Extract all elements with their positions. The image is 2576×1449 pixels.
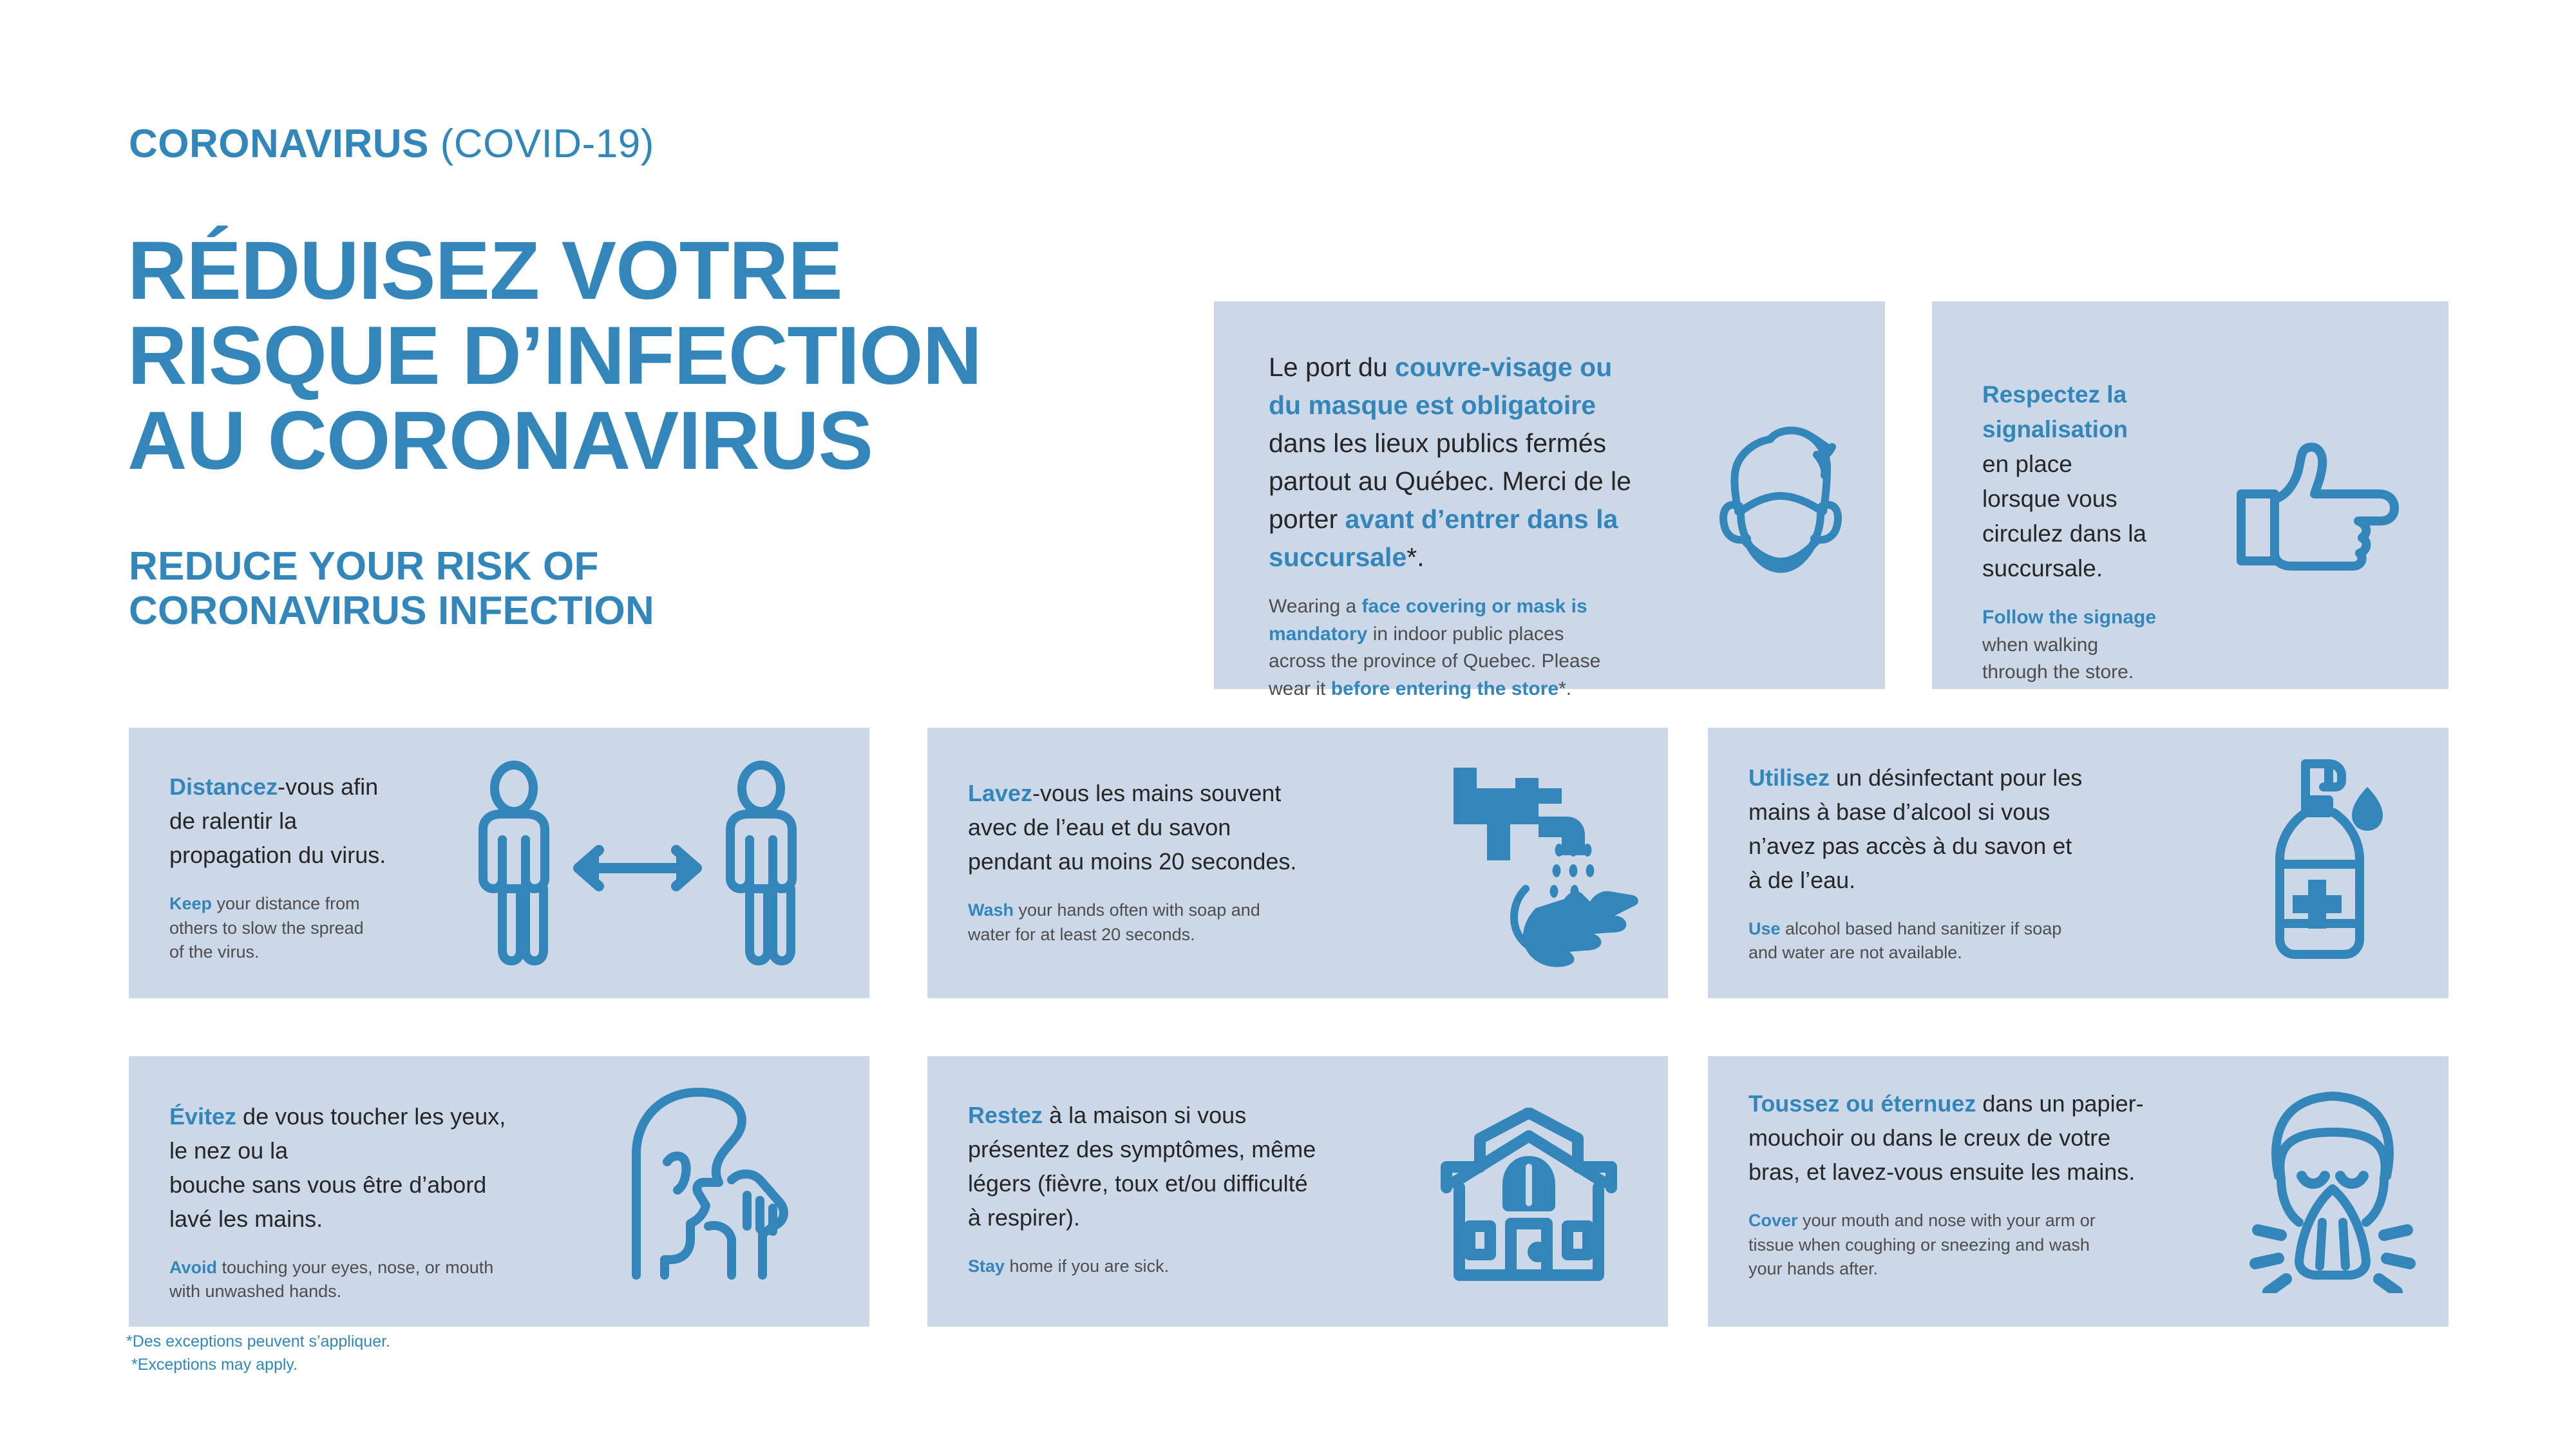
- faucet-hands-icon: [1446, 755, 1639, 967]
- card-cough-text-en: Cover your mouth and nose with your arm …: [1748, 1209, 2277, 1282]
- card-distance-text: Distancez-vous afinde ralentir lapropaga…: [169, 770, 472, 965]
- card-touch-text-en: Avoid touching your eyes, nose, or mouth…: [169, 1256, 659, 1305]
- masked-face-icon: [1703, 419, 1858, 592]
- card-cover-cough: Toussez ou éternuez dans un papier-mouch…: [1708, 1056, 2448, 1327]
- page-title: RÉDUISEZ VOTRERISQUE D’INFECTIONAU CORON…: [128, 229, 981, 483]
- card-wash-hands: Lavez-vous les mains souventavec de l’ea…: [927, 728, 1668, 998]
- card-stay-home: Restez à la maison si vousprésentez des …: [927, 1056, 1668, 1327]
- page-kicker: CORONAVIRUS (COVID-19): [129, 121, 654, 167]
- footnote: *Des exceptions peuvent s’appliquer. *Ex…: [126, 1331, 390, 1376]
- kicker-light: (COVID-19): [429, 122, 654, 166]
- card-touch-text: Évitez de vous toucher les yeux,le nez o…: [169, 1100, 659, 1304]
- card-cough-text: Toussez ou éternuez dans un papier-mouch…: [1748, 1087, 2277, 1282]
- two-people-distance-icon: [457, 760, 818, 966]
- card-sanitizer-text-en: Use alcohol based hand sanitizer if soap…: [1748, 917, 2251, 966]
- footnote-fr: *Des exceptions peuvent s’appliquer.: [126, 1331, 390, 1354]
- card-stay-text-en: Stay home if you are sick.: [968, 1255, 1457, 1279]
- thumbs-up-icon: [2235, 440, 2402, 575]
- card-cough-text-fr: Toussez ou éternuez dans un papier-mouch…: [1748, 1087, 2277, 1189]
- card-keep-distance: Distancez-vous afinde ralentir lapropaga…: [129, 728, 869, 998]
- card-distance-text-fr: Distancez-vous afinde ralentir lapropaga…: [169, 770, 472, 873]
- card-follow-signage: Respectez lasignalisationen placelorsque…: [1932, 301, 2448, 689]
- card-stay-text: Restez à la maison si vousprésentez des …: [968, 1099, 1457, 1278]
- card-mask-mandatory: Le port du couvre-visage oudu masque est…: [1214, 301, 1885, 689]
- card-mask-text-en: Wearing a face covering or mask ismandat…: [1269, 593, 1713, 703]
- card-stay-text-fr: Restez à la maison si vousprésentez des …: [968, 1099, 1457, 1235]
- card-wash-text-fr: Lavez-vous les mains souventavec de l’ea…: [968, 777, 1457, 879]
- card-avoid-touching-face: Évitez de vous toucher les yeux,le nez o…: [129, 1056, 869, 1327]
- face-touch-icon: [618, 1082, 805, 1294]
- card-signage-text-fr: Respectez lasignalisationen placelorsque…: [1982, 377, 2214, 586]
- house-icon: [1436, 1108, 1623, 1288]
- card-hand-sanitizer: Utilisez un désinfectant pour lesmains à…: [1708, 728, 2448, 998]
- card-mask-text: Le port du couvre-visage oudu masque est…: [1269, 348, 1713, 703]
- kicker-bold: CORONAVIRUS: [129, 122, 429, 166]
- card-distance-text-en: Keep your distance fromothers to slow th…: [169, 892, 472, 965]
- card-wash-text: Lavez-vous les mains souventavec de l’ea…: [968, 777, 1457, 947]
- sneezing-face-icon: [2242, 1081, 2423, 1293]
- infographic-poster: CORONAVIRUS (COVID-19) RÉDUISEZ VOTRERIS…: [0, 0, 2576, 1449]
- footnote-en: *Exceptions may apply.: [126, 1354, 390, 1377]
- sanitizer-bottle-icon: [2249, 753, 2410, 966]
- card-signage-text: Respectez lasignalisationen placelorsque…: [1982, 377, 2214, 687]
- card-mask-text-fr: Le port du couvre-visage oudu masque est…: [1269, 348, 1713, 576]
- card-touch-text-fr: Évitez de vous toucher les yeux,le nez o…: [169, 1100, 659, 1236]
- card-sanitizer-text: Utilisez un désinfectant pour lesmains à…: [1748, 761, 2251, 965]
- page-subtitle: REDUCE YOUR RISK OFCORONAVIRUS INFECTION: [129, 544, 654, 634]
- card-signage-text-en: Follow the signagewhen walkingthrough th…: [1982, 604, 2214, 687]
- card-sanitizer-text-fr: Utilisez un désinfectant pour lesmains à…: [1748, 761, 2251, 898]
- card-wash-text-en: Wash your hands often with soap andwater…: [968, 898, 1457, 947]
